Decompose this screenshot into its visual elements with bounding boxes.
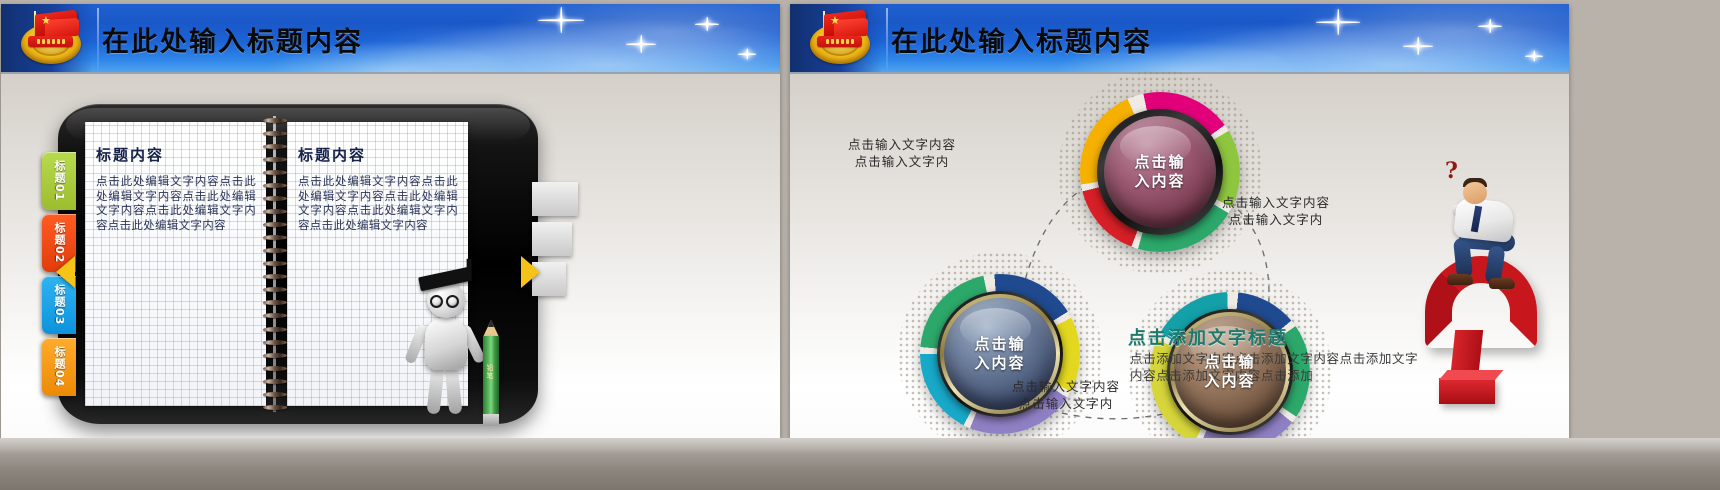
question-mark-dot: [1439, 378, 1495, 404]
slide-notebook[interactable]: ★ 在此处输入标题内容 标题01 标题02: [1, 4, 780, 439]
node-label: 点击输入内容: [957, 335, 1043, 373]
label-line-2: 点击输入文字内: [1012, 395, 1120, 412]
page-heading: 标题内容: [298, 144, 366, 165]
label-right: 点击输入文字内容 点击输入文字内: [1222, 194, 1330, 228]
node-top[interactable]: 点击输入内容: [1080, 92, 1240, 252]
notebook-tab-label: 标题03: [51, 284, 67, 325]
notebook-tab-4[interactable]: 标题04: [42, 338, 76, 396]
label-line-2: 点击输入文字内: [848, 153, 956, 170]
page-title: 在此处输入标题内容: [102, 4, 363, 74]
notebook-tab-1[interactable]: 标题01: [42, 152, 76, 210]
prev-arrow-icon[interactable]: [56, 256, 75, 288]
slide-header-right: ★ 在此处输入标题内容: [790, 4, 1569, 74]
label-line-1: 点击输入文字内容: [1222, 195, 1330, 210]
label-bottom: 点击输入文字内容 点击输入文字内: [1012, 378, 1120, 412]
page-paragraph: 点击此处编辑文字内容点击此处编辑文字内容点击此处编辑文字内容点击此处编辑文字内容…: [298, 174, 458, 232]
thinking-man-icon: ?: [1429, 162, 1533, 284]
label-top-left: 点击输入文字内容 点击输入文字内: [848, 136, 956, 170]
slide-header-left: ★ 在此处输入标题内容: [1, 4, 780, 74]
thought-question-mark: ?: [1445, 158, 1458, 184]
notebook-page-left: 标题内容 点击此处编辑文字内容点击此处编辑文字内容点击此处编辑文字内容点击此处编…: [85, 122, 266, 406]
next-arrow-icon[interactable]: [521, 256, 540, 288]
slide-circles[interactable]: ★ 在此处输入标题内容 点击输入内容: [790, 4, 1569, 439]
page-title: 在此处输入标题内容: [891, 4, 1152, 74]
cyl-emblem-icon: ★: [19, 10, 83, 66]
header-divider: [886, 8, 888, 70]
cyl-emblem-icon: ★: [808, 10, 872, 66]
question-mark-stem: [1451, 330, 1483, 372]
slide-gutter: [780, 0, 790, 490]
page-heading: 标题内容: [96, 144, 164, 165]
notebook-tab-label: 标题04: [51, 346, 67, 387]
header-divider: [97, 8, 99, 70]
spiral-binding: [262, 118, 288, 410]
slide-body-left: 标题01 标题02 标题03 标题04 标题内容 点击此处编辑文字内容点击此处编…: [1, 74, 780, 439]
node-label: 点击输入内容: [1117, 153, 1203, 191]
notebook-tab-label: 标题01: [51, 160, 67, 201]
text-block-body: 点击添加文字内容点击添加文字内容点击添加文字内容点击添加文字内容点击添加: [1130, 350, 1430, 384]
deck-base-shelf: [0, 438, 1720, 490]
mascot-3d-figure: 铅笔: [405, 274, 513, 424]
page-paragraph: 点击此处编辑文字内容点击此处编辑文字内容点击此处编辑文字内容点击此处编辑文字内容…: [96, 174, 256, 232]
slide-deck: ★ 在此处输入标题内容 标题01 标题02: [0, 0, 1720, 490]
node-label: 点击输入内容: [1187, 353, 1273, 391]
label-line-2: 点击输入文字内: [1222, 211, 1330, 228]
pencil-icon: 铅笔: [479, 320, 503, 428]
slide-body-right: 点击输入内容 点击输入内容 点击输入内容: [790, 74, 1569, 439]
text-block-title: 点击添加文字标题: [1128, 324, 1288, 350]
pencil-label: 铅笔: [485, 364, 495, 380]
label-line-1: 点击输入文字内容: [1012, 379, 1120, 394]
label-line-1: 点击输入文字内容: [848, 137, 956, 152]
node-core: 点击输入内容: [1104, 116, 1216, 228]
